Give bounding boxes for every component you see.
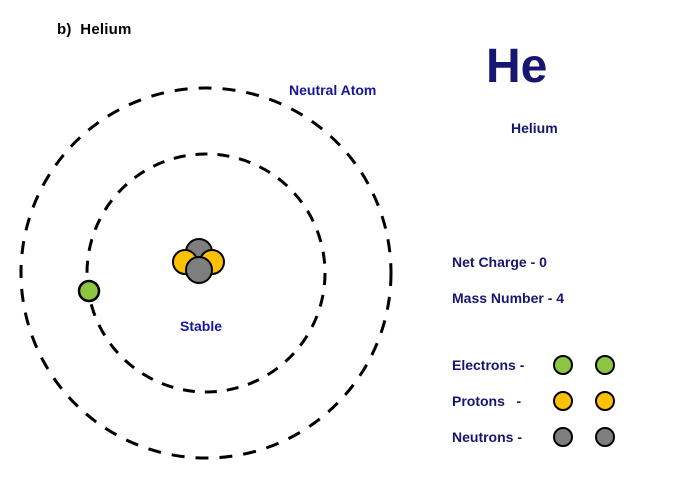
electron-particle [79, 281, 99, 301]
legend-swatches-neutrons [553, 427, 615, 447]
neutron-particle [186, 257, 212, 283]
electron-swatch [595, 355, 615, 375]
proton-swatch [595, 391, 615, 411]
element-name: Helium [511, 120, 558, 136]
legend-swatches-electrons [553, 355, 615, 375]
legend-label-neutrons: Neutrons - [452, 429, 522, 445]
neutral-atom-label: Neutral Atom [289, 82, 376, 98]
legend-label-electrons: Electrons - [452, 357, 524, 373]
element-symbol: He [486, 43, 547, 91]
proton-swatch [553, 391, 573, 411]
figure-canvas: b) Helium Neutral Atom Stable He Helium … [0, 0, 684, 496]
stability-label: Stable [180, 318, 222, 334]
atom-diagram-svg [0, 0, 430, 496]
neutron-swatch [553, 427, 573, 447]
legend-row-neutrons: Neutrons - [452, 427, 622, 463]
atom-diagram [0, 0, 430, 496]
nucleus [173, 239, 224, 283]
net-charge-stat: Net Charge - 0 [452, 254, 547, 270]
mass-number-stat: Mass Number - 4 [452, 290, 564, 306]
legend-row-protons: Protons - [452, 391, 622, 427]
electron-swatch [553, 355, 573, 375]
legend-swatches-protons [553, 391, 615, 411]
legend-row-electrons: Electrons - [452, 355, 622, 391]
legend-label-protons: Protons - [452, 393, 521, 409]
particle-legend: Electrons - Protons - Neutrons - [452, 355, 622, 463]
neutron-swatch [595, 427, 615, 447]
